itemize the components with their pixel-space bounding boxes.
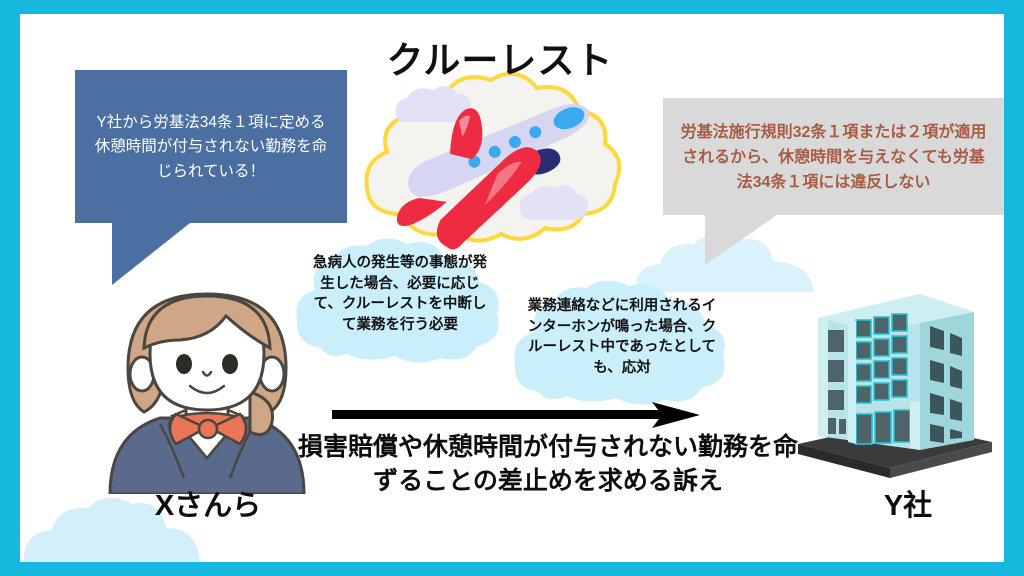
- office-building-icon: [790, 272, 1000, 480]
- label-defendant: Y社: [848, 482, 968, 524]
- speech-bubble-defendant-tail: [705, 215, 777, 265]
- speech-bubble-plaintiff-tail: [112, 223, 190, 285]
- airplane-in-cloud-icon: [345, 62, 645, 252]
- page-title: クルーレスト: [350, 30, 650, 84]
- diagram-canvas: クルーレスト: [20, 14, 1004, 562]
- speech-bubble-plaintiff: Y社から労基法34条１項に定める休憩時間が付与されない勤務を命じられている！: [75, 70, 347, 223]
- thought-bubble-emergency: 急病人の発生等の事態が発生した場合、必要に応じて、クルーレストを中断して業務を行…: [291, 236, 509, 364]
- arrow-caption: 損害賠償や休憩時間が付与されない勤務を命ずることの差止めを求める訴え: [298, 430, 798, 498]
- thought-bubble-intercom-text: 業務連絡などに利用されるインターホンが鳴った場合、クルーレスト中であったとしても…: [525, 296, 719, 378]
- speech-bubble-defendant: 労基法施行規則32条１項または２項が適用されるから、休憩時間を与えなくても労基法…: [663, 98, 1004, 215]
- label-plaintiff: Xさんら: [118, 482, 298, 524]
- thought-bubble-intercom: 業務連絡などに利用されるインターホンが鳴った場合、クルーレスト中であったとしても…: [509, 280, 735, 408]
- right-arrow-icon: [332, 402, 700, 428]
- speech-bubble-defendant-text: 労基法施行規則32条１項または２項が適用されるから、休憩時間を与えなくても労基法…: [663, 98, 1004, 215]
- speech-bubble-plaintiff-text: Y社から労基法34条１項に定める休憩時間が付与されない勤務を命じられている！: [75, 70, 347, 223]
- thought-bubble-emergency-text: 急病人の発生等の事態が発生した場合、必要に応じて、クルーレストを中断して業務を行…: [307, 253, 493, 335]
- flight-attendant-icon: [98, 282, 316, 494]
